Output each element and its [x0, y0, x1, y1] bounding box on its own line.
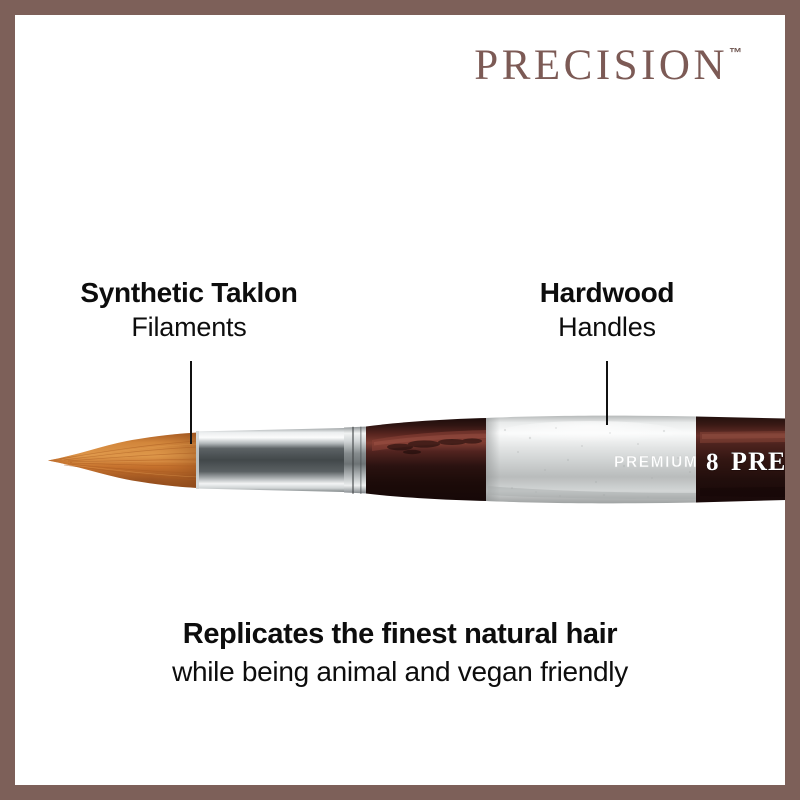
- leader-line-filaments: [190, 361, 192, 444]
- brush-handle-wood-front: [366, 418, 487, 501]
- product-infographic-page: PREMIUM 8 PRECIS Synthetic Taklon Filame…: [0, 0, 800, 800]
- brush-handle-pearl: PREMIUM: [486, 416, 698, 504]
- handle-premium-imprint: PREMIUM: [614, 454, 698, 471]
- handle-size-imprint: 8: [706, 449, 719, 476]
- brush-handle-wood-rear: 8 PRECIS: [696, 417, 800, 503]
- paint-brush-illustration: PREMIUM 8 PRECIS: [0, 400, 800, 515]
- brand-name: PRECISION: [474, 44, 728, 87]
- trademark-symbol: ™: [729, 46, 742, 59]
- brush-bristles: [48, 433, 198, 489]
- callout-handles-line2: Handles: [497, 312, 717, 344]
- leader-line-handles: [606, 361, 608, 425]
- callout-filaments-line2: Filaments: [60, 312, 318, 344]
- handle-brand-imprint: PRECIS: [731, 447, 800, 476]
- tagline: Replicates the finest natural hair while…: [0, 618, 800, 689]
- tagline-line1: Replicates the finest natural hair: [0, 618, 800, 651]
- callout-hardwood-handles: Hardwood Handles: [497, 276, 717, 344]
- tagline-line2: while being animal and vegan friendly: [0, 655, 800, 689]
- brand-logo: PRECISION ™: [474, 44, 742, 87]
- callout-synthetic-taklon: Synthetic Taklon Filaments: [60, 276, 318, 344]
- brush-ferrule: [196, 427, 368, 495]
- callout-handles-line1: Hardwood: [497, 276, 717, 309]
- callout-filaments-line1: Synthetic Taklon: [60, 276, 318, 309]
